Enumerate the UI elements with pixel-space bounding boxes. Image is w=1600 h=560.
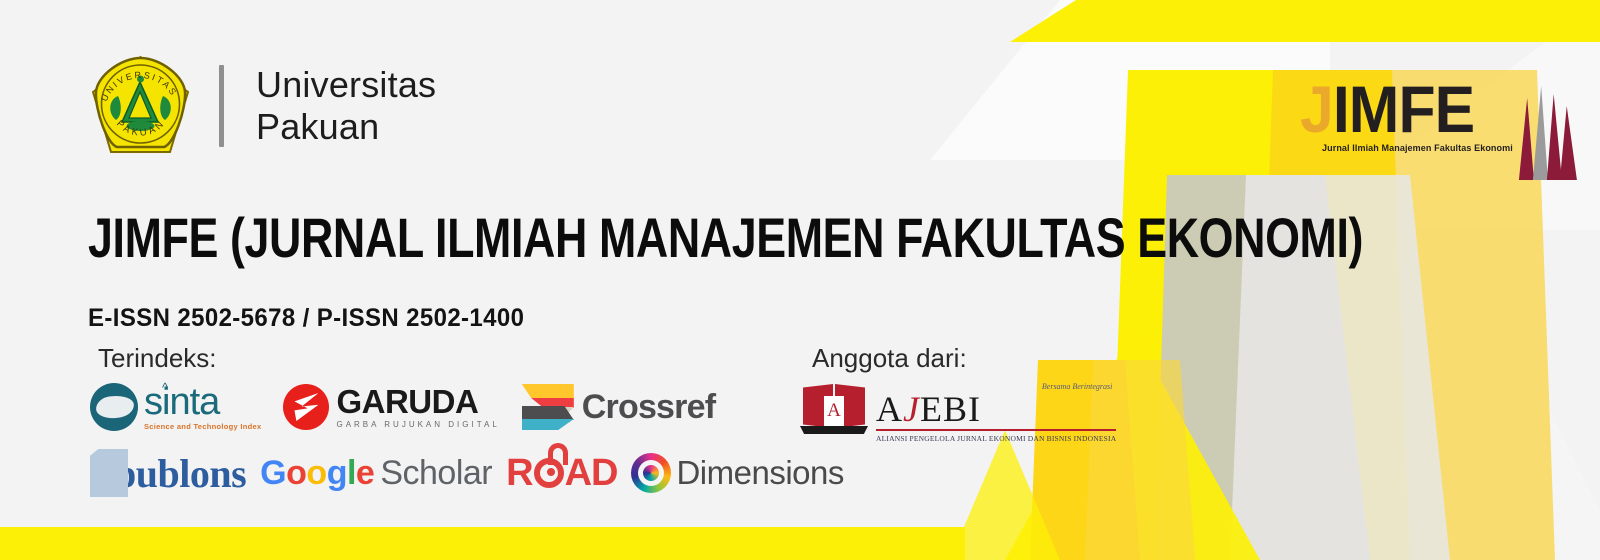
identity-divider	[219, 65, 224, 147]
ajebi-logo[interactable]: A Bersama Berintegrasi AJEBI ALIANSI PEN…	[800, 382, 1116, 443]
road-wordmark-left: R	[506, 452, 532, 495]
indexing-label: Terindeks:	[98, 343, 217, 374]
garuda-icon	[283, 384, 329, 430]
publons-icon	[90, 449, 128, 497]
google-scholar-logo[interactable]: GoogleScholar	[260, 454, 492, 493]
google-letter-g2: g	[327, 454, 347, 493]
jimfe-wordmark: JIMFE	[1300, 78, 1505, 141]
road-wordmark-right: AD	[565, 452, 618, 495]
ajebi-letter-a: A	[876, 389, 903, 429]
scholar-wordmark: Scholar	[380, 454, 492, 493]
ajebi-full-name: ALIANSI PENGELOLA JURNAL EKONOMI DAN BIS…	[876, 434, 1116, 443]
google-letter-g: G	[260, 454, 286, 493]
sinta-accent-icon: ^	[162, 381, 167, 394]
journal-title: JIMFE (JURNAL ILMIAH MANAJEMEN FAKULTAS …	[88, 205, 1363, 270]
top-yellow-band	[1010, 0, 1600, 42]
crossref-wordmark: Crossref	[582, 388, 715, 427]
google-letter-o2: o	[306, 454, 326, 493]
bottom-yellow-bar	[0, 527, 965, 560]
journal-issn: E-ISSN 2502-5678 / P-ISSN 2502-1400	[88, 304, 524, 333]
dimensions-wordmark: Dimensions	[676, 454, 843, 492]
jimfe-letters-rest: IMFE	[1333, 72, 1474, 146]
ajebi-letter-j: J	[903, 389, 920, 429]
universitas-pakuan-seal-icon: UNIVERSITAS PAKUAN	[88, 52, 193, 160]
jimfe-book-icon	[1519, 82, 1579, 180]
university-name-line1: Universitas	[256, 64, 436, 106]
membership-label: Anggota dari:	[812, 343, 967, 374]
top-diagonal-shape	[930, 0, 1330, 160]
garuda-wordmark: GARUDA	[336, 385, 499, 418]
google-letter-e: e	[356, 454, 374, 493]
university-name-line2: Pakuan	[256, 106, 436, 148]
journal-banner: UNIVERSITAS PAKUAN Universitas Pakuan JI…	[0, 0, 1600, 560]
dimensions-icon	[631, 453, 671, 493]
ajebi-letters-rest: EBI	[920, 389, 981, 429]
dimensions-logo[interactable]: Dimensions	[631, 453, 843, 493]
ajebi-motto: Bersama Berintegrasi	[1042, 382, 1112, 391]
jimfe-logo[interactable]: JIMFE Jurnal Ilmiah Manajemen Fakultas E…	[1300, 78, 1579, 180]
google-letter-o1: o	[286, 454, 306, 493]
crossref-icon	[522, 384, 574, 430]
indexing-logos-row-1: sinta^ Science and Technology Index GARU…	[90, 383, 715, 431]
road-logo[interactable]: R AD	[506, 452, 617, 495]
ajebi-wordmark: AJEBI	[876, 391, 1116, 427]
garuda-logo[interactable]: GARUDA GARBA RUJUKAN DIGITAL	[283, 384, 499, 430]
google-letter-l: l	[347, 454, 356, 493]
ajebi-book-letter: A	[824, 396, 844, 426]
jimfe-letter-j: J	[1300, 72, 1333, 146]
ajebi-book-icon: A	[800, 382, 868, 434]
university-identity: UNIVERSITAS PAKUAN Universitas Pakuan	[88, 52, 436, 160]
sinta-icon	[90, 383, 138, 431]
garuda-tagline: GARBA RUJUKAN DIGITAL	[336, 421, 499, 429]
publons-wordmark: publons	[114, 450, 246, 497]
jimfe-subtitle: Jurnal Ilmiah Manajemen Fakultas Ekonomi	[1322, 143, 1513, 154]
mountain-shape-yellow-3	[1005, 0, 1260, 560]
sinta-logo[interactable]: sinta^ Science and Technology Index	[90, 383, 261, 431]
crossref-logo[interactable]: Crossref	[522, 384, 715, 430]
sinta-tagline: Science and Technology Index	[144, 423, 261, 431]
road-open-lock-icon	[534, 458, 564, 488]
indexing-logos-row-2: publons GoogleScholar R AD Dimensions	[90, 449, 844, 497]
mountain-shape-small-3	[950, 430, 1060, 560]
university-name: Universitas Pakuan	[256, 64, 436, 148]
publons-logo[interactable]: publons	[90, 449, 246, 497]
ajebi-rule	[876, 429, 1116, 431]
sinta-wordmark: sinta^	[144, 383, 261, 421]
